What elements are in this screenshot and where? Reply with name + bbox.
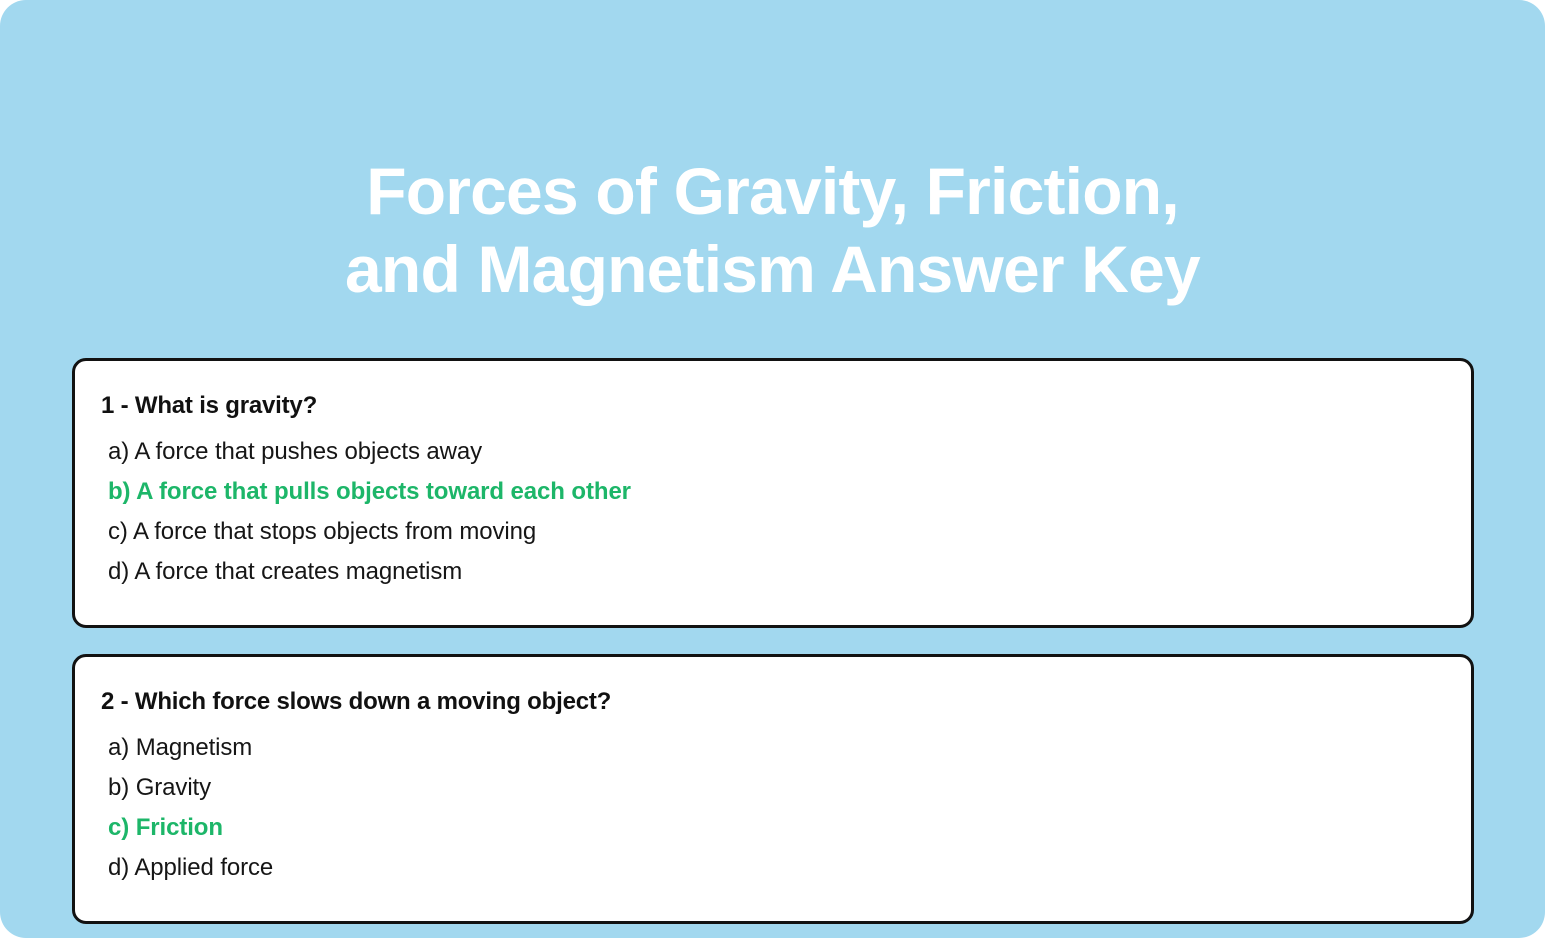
question-heading: 2 - Which force slows down a moving obje… (101, 687, 1445, 717)
answer-option[interactable]: a) A force that pushes objects away (108, 432, 1445, 472)
answer-option[interactable]: b) Gravity (108, 768, 1445, 808)
page-title: Forces of Gravity, Friction, and Magneti… (0, 152, 1545, 308)
answer-option-correct[interactable]: b) A force that pulls objects toward eac… (108, 472, 1445, 512)
answer-option-list: a) Magnetism b) Gravity c) Friction d) A… (101, 728, 1445, 888)
answer-option[interactable]: d) Applied force (108, 848, 1445, 888)
answer-option[interactable]: a) Magnetism (108, 728, 1445, 768)
answer-option-correct[interactable]: c) Friction (108, 808, 1445, 848)
answer-option-list: a) A force that pushes objects away b) A… (101, 432, 1445, 592)
question-heading: 1 - What is gravity? (101, 391, 1445, 421)
answer-option[interactable]: c) A force that stops objects from movin… (108, 512, 1445, 552)
question-card: 1 - What is gravity? a) A force that pus… (72, 358, 1474, 628)
question-card: 2 - Which force slows down a moving obje… (72, 654, 1474, 924)
worksheet-page: Forces of Gravity, Friction, and Magneti… (0, 0, 1545, 938)
question-card-list: 1 - What is gravity? a) A force that pus… (72, 358, 1474, 938)
answer-option[interactable]: d) A force that creates magnetism (108, 552, 1445, 592)
